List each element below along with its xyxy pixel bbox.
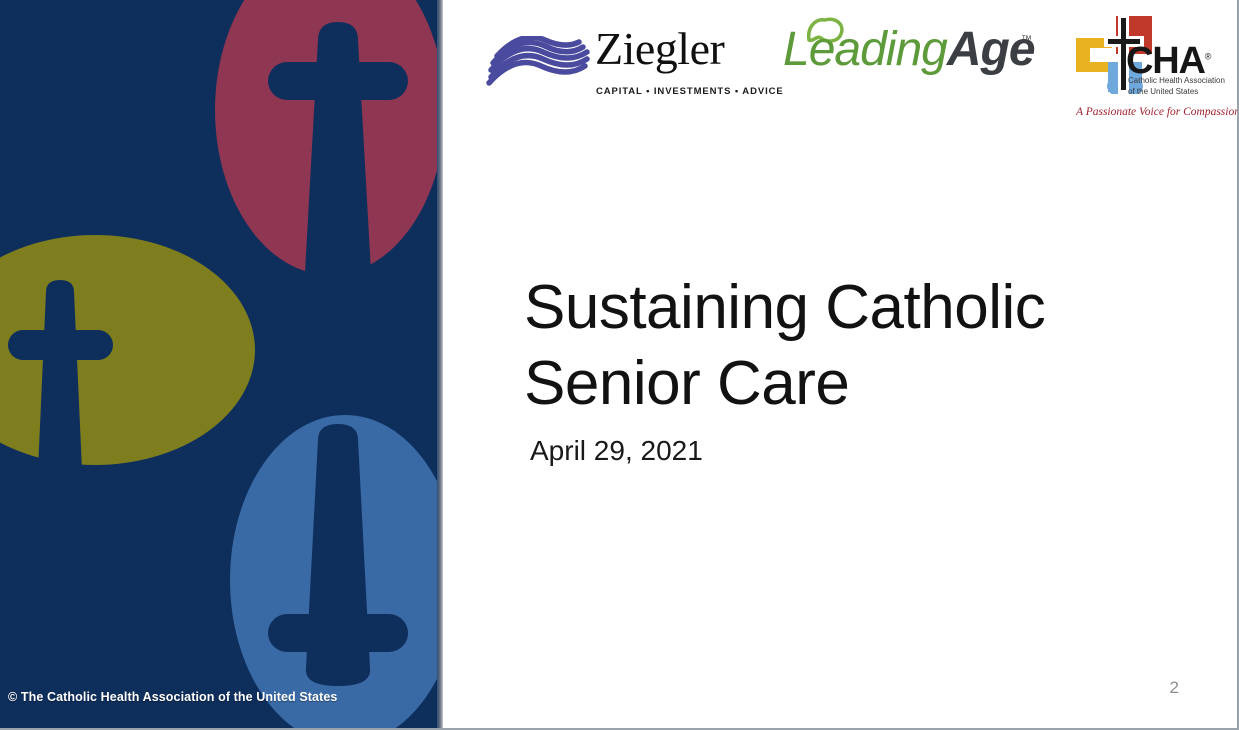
partner-logo-bar: Ziegler CAPITAL • INVESTMENTS • ADVICE L… [443, 0, 1237, 130]
cha-logo: CHA® Catholic Health Association of the … [1068, 14, 1239, 122]
title-block: Sustaining Catholic Senior Care April 29… [524, 270, 1174, 467]
cha-brand-artwork [0, 0, 443, 730]
slide-title-line-1: Sustaining Catholic [524, 273, 1045, 342]
copyright-notice: © The Catholic Health Association of the… [8, 690, 337, 704]
cha-tagline: A Passionate Voice for Compassionate Car… [1076, 106, 1239, 118]
leadingage-word-second: Age [947, 23, 1035, 76]
cha-letters: CHA® [1126, 42, 1210, 80]
cha-subtitle: Catholic Health Association of the Unite… [1128, 76, 1239, 98]
ziegler-wordmark: Ziegler [595, 26, 724, 72]
presentation-slide: © The Catholic Health Association of the… [0, 0, 1239, 730]
slide-title-line-2: Senior Care [524, 349, 849, 418]
cha-subtitle-line-1: Catholic Health Association [1128, 76, 1239, 87]
ziegler-tagline: CAPITAL • INVESTMENTS • ADVICE [596, 86, 784, 97]
page-number: 2 [1170, 678, 1179, 698]
ziegler-logo: Ziegler CAPITAL • INVESTMENTS • ADVICE [483, 26, 743, 112]
cha-registered-symbol: ® [1205, 51, 1210, 61]
ziegler-wave-mark-icon [483, 36, 595, 88]
cha-subtitle-line-2: of the United States [1128, 87, 1239, 98]
slide-date: April 29, 2021 [530, 435, 1174, 467]
slide-title: Sustaining Catholic Senior Care [524, 270, 1174, 421]
leadingage-word-first: Leading [783, 23, 947, 76]
leadingage-logo: LeadingAge ™ [783, 22, 1053, 92]
brand-artwork-panel: © The Catholic Health Association of the… [0, 0, 443, 730]
leadingage-wordmark: LeadingAge [783, 26, 1035, 74]
leadingage-trademark-symbol: ™ [1021, 34, 1032, 46]
